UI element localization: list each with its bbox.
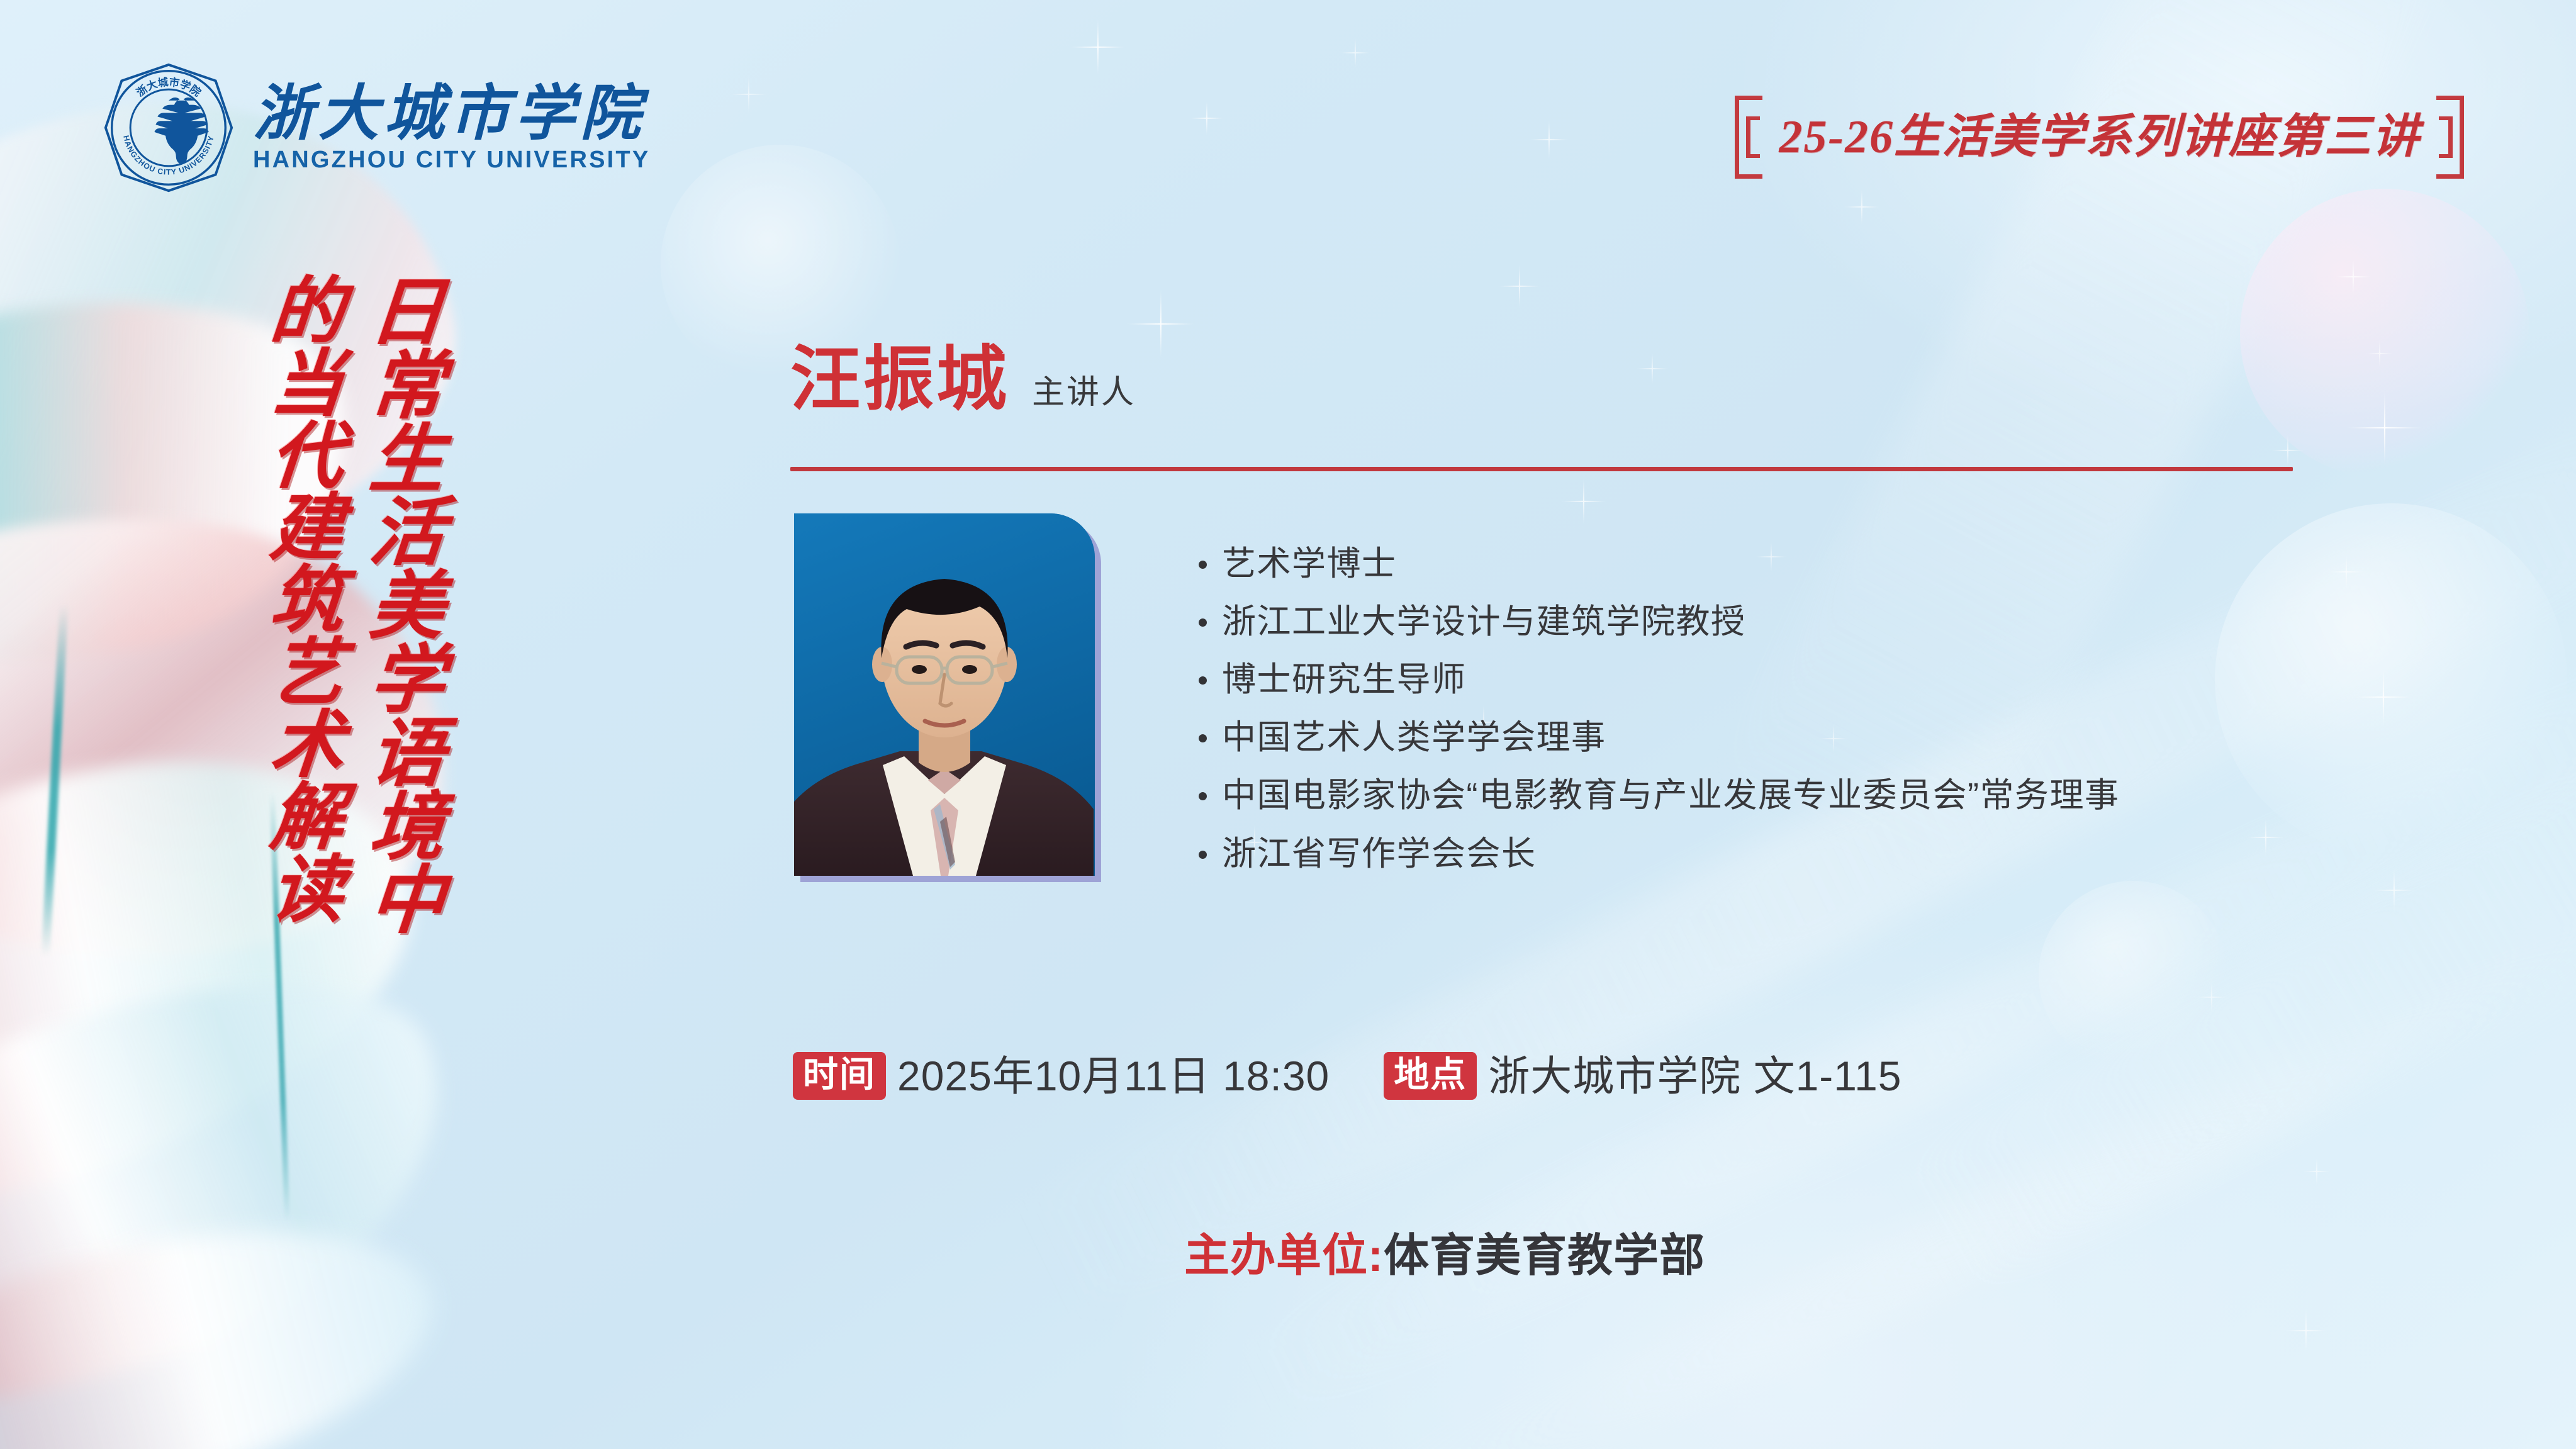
- time-value: 2025年10月11日 18:30: [897, 1055, 1330, 1097]
- host-value: 体育美育教学部: [1384, 1233, 1705, 1278]
- credential-text: 博士研究生导师: [1222, 658, 1467, 702]
- title-char: 境: [367, 792, 447, 865]
- list-item: 浙江工业大学设计与建筑学院教授: [1199, 600, 2119, 644]
- place-value: 浙大城市学院 文1-115: [1488, 1055, 1901, 1097]
- bracket-right-icon: [2436, 96, 2464, 179]
- title-column-left: 日 常 生 活 美 学 语 境 中: [370, 277, 444, 938]
- sparkle-icon: [1636, 352, 1669, 385]
- title-char: 日: [367, 277, 447, 350]
- title-char: 活: [367, 497, 447, 571]
- credential-text: 浙江工业大学设计与建筑学院教授: [1222, 600, 1746, 644]
- sparkle-icon: [2303, 1158, 2331, 1185]
- credential-text: 艺术学博士: [1222, 542, 1397, 586]
- title-char: 中: [367, 865, 447, 939]
- title-char: 语: [367, 718, 447, 792]
- host-organization: 主办单位: 体育美育教学部: [1184, 1233, 1705, 1278]
- title-char: 代: [267, 422, 347, 494]
- list-item: 博士研究生导师: [1199, 658, 2119, 702]
- title-char: 解: [267, 783, 347, 855]
- bullet-dot-icon: [1199, 851, 1207, 859]
- speaker-portrait: [794, 513, 1095, 876]
- bullet-dot-icon: [1199, 734, 1207, 742]
- place-label-badge: 地点: [1384, 1052, 1477, 1100]
- speaker-name: 汪振城: [790, 345, 1009, 415]
- sparkle-icon: [1340, 38, 1370, 68]
- lecture-title-vertical: 日 常 生 活 美 学 语 境 中 的 当 代 建 筑 艺 术 解 读: [271, 277, 444, 938]
- title-char: 筑: [267, 566, 347, 638]
- sparkle-icon: [1189, 101, 1224, 136]
- bullet-dot-icon: [1199, 792, 1207, 800]
- logo-name-cn: 浙大城市学院: [253, 84, 650, 144]
- time-label-badge: 时间: [793, 1052, 886, 1100]
- speaker-credentials-list: 艺术学博士 浙江工业大学设计与建筑学院教授 博士研究生导师 中国艺术人类学学会理…: [1199, 542, 2119, 876]
- title-column-right: 的 当 代 建 筑 艺 术 解 读: [271, 277, 344, 938]
- event-time: 时间 2025年10月11日 18:30: [793, 1052, 1330, 1100]
- university-logo: 浙大城市学院 HANGZHOU CITY UNIVERSITY 浙大城市学院 H…: [101, 60, 650, 196]
- list-item: 艺术学博士: [1199, 542, 2119, 586]
- title-char: 建: [267, 493, 347, 566]
- title-char: 生: [367, 424, 447, 498]
- credential-text: 中国电影家协会“电影教育与产业发展专业委员会”常务理事: [1222, 774, 2119, 817]
- title-char: 读: [267, 855, 347, 927]
- sparkle-icon: [730, 76, 768, 113]
- poster-canvas: 浙大城市学院 HANGZHOU CITY UNIVERSITY 浙大城市学院 H…: [0, 0, 2576, 1449]
- credential-text: 浙江省写作学会会长: [1222, 832, 1537, 876]
- event-details-row: 时间 2025年10月11日 18:30 地点 浙大城市学院 文1-115: [793, 1052, 1902, 1100]
- list-item: 浙江省写作学会会长: [1199, 832, 2119, 876]
- logo-name-en: HANGZHOU CITY UNIVERSITY: [253, 148, 650, 172]
- portrait-image: [794, 513, 1095, 876]
- divider-rule: [790, 467, 2293, 471]
- bracket-left-icon: [1735, 96, 1762, 179]
- title-char: 学: [367, 644, 447, 718]
- sparkle-icon: [1498, 264, 1542, 308]
- series-banner-text: 25-26生活美学系列讲座第三讲: [1762, 114, 2436, 160]
- bokeh-orb-decoration: [2240, 189, 2529, 478]
- sparkle-icon: [1844, 189, 1880, 225]
- title-char: 当: [267, 349, 347, 422]
- university-crest-icon: 浙大城市学院 HANGZHOU CITY UNIVERSITY: [101, 60, 237, 196]
- sparkle-icon: [1126, 289, 1196, 359]
- event-place: 地点 浙大城市学院 文1-115: [1384, 1052, 1901, 1100]
- title-char: 美: [367, 571, 447, 644]
- sparkle-icon: [1529, 120, 1569, 160]
- title-char: 术: [267, 710, 347, 783]
- bokeh-orb-decoration: [2039, 881, 2227, 1070]
- list-item: 中国艺术人类学学会理事: [1199, 716, 2119, 759]
- credential-text: 中国艺术人类学学会理事: [1222, 716, 1606, 759]
- host-label: 主办单位:: [1184, 1233, 1384, 1278]
- bullet-dot-icon: [1199, 561, 1207, 569]
- sparkle-icon: [1070, 19, 1126, 76]
- title-char: 常: [367, 350, 447, 424]
- bullet-dot-icon: [1199, 676, 1207, 685]
- title-char: 艺: [267, 638, 347, 710]
- title-char: 的: [267, 277, 347, 349]
- speaker-role-label: 主讲人: [1032, 376, 1136, 409]
- bokeh-orb-decoration: [2215, 503, 2567, 856]
- sparkle-icon: [2284, 1309, 2328, 1353]
- speaker-heading: 汪振城 主讲人: [790, 345, 1136, 415]
- series-banner: 25-26生活美学系列讲座第三讲: [1735, 96, 2464, 179]
- svg-text:浙大城市学院: 浙大城市学院: [134, 76, 204, 99]
- sparkle-icon: [1560, 478, 1607, 525]
- bullet-dot-icon: [1199, 618, 1207, 627]
- list-item: 中国电影家协会“电影教育与产业发展专业委员会”常务理事: [1199, 774, 2119, 817]
